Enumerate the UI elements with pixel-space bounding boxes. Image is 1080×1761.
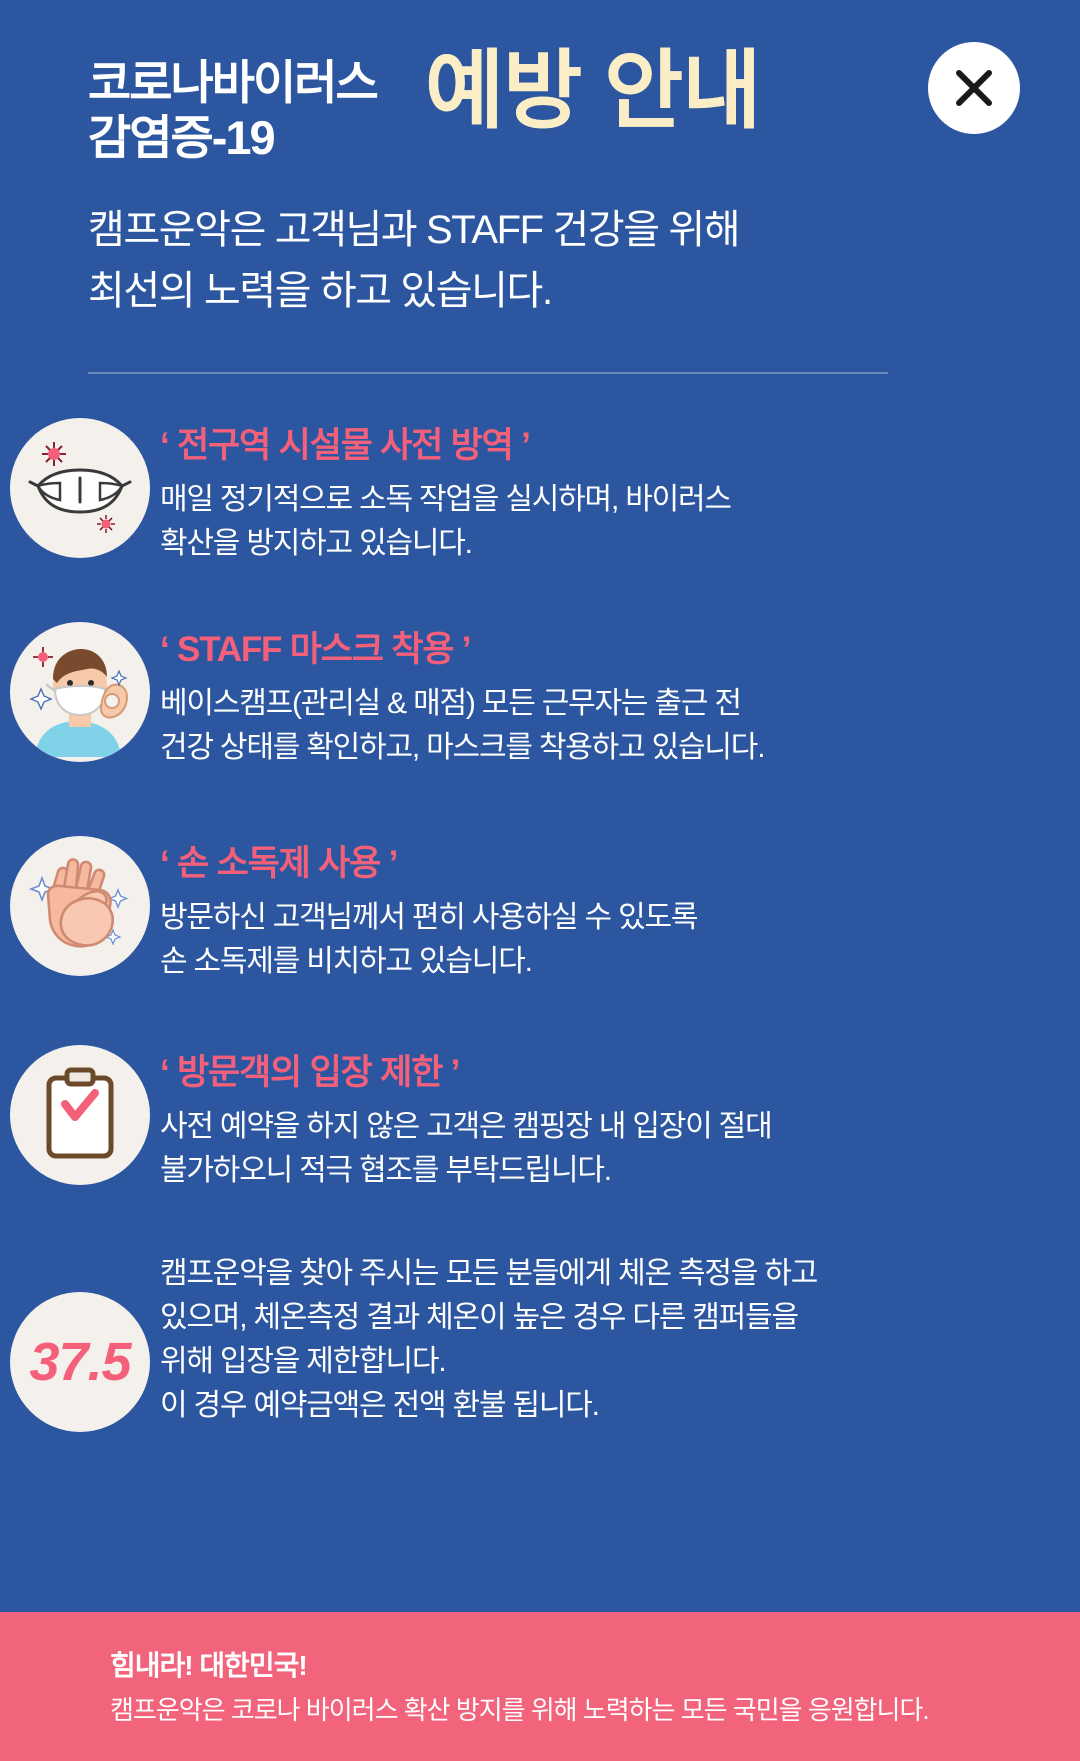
intro-text: 캠프운악은 고객님과 STAFF 건강을 위해 최선의 노력을 하고 있습니다. — [88, 200, 968, 322]
list-item: ‘ 손 소독제 사용 ’ 방문하신 고객님께서 편히 사용하실 수 있도록 손 … — [0, 828, 1080, 1023]
page-title: 예방 안내 — [425, 48, 760, 134]
icon-container — [0, 410, 160, 558]
list-item-title: ‘ STAFF 마스크 착용 ’ — [160, 628, 764, 672]
divider — [88, 372, 888, 374]
list-item-body: 사전 예약을 하지 않은 고객은 캠핑장 내 입장이 절대 불가하오니 적극 협… — [160, 1105, 771, 1193]
hand-sanitizer-icon — [10, 836, 150, 976]
list-item: ‘ 방문객의 입장 제한 ’ 사전 예약을 하지 않은 고객은 캠핑장 내 입장… — [0, 1037, 1080, 1232]
icon-container — [0, 1037, 160, 1185]
list-item: 37.5 캠프운악을 찾아 주시는 모든 분들에게 체온 측정을 하고 있으며,… — [0, 1246, 1080, 1446]
list-item-text: 캠프운악을 찾아 주시는 모든 분들에게 체온 측정을 하고 있으며, 체온측정… — [160, 1246, 857, 1428]
list-item-text: ‘ STAFF 마스크 착용 ’ 베이스캠프(관리실 & 매점) 모든 근무자는… — [160, 614, 804, 770]
list-item-text: ‘ 전구역 시설물 사전 방역 ’ 매일 정기적으로 소독 작업을 실시하며, … — [160, 410, 771, 566]
list-item-text: ‘ 손 소독제 사용 ’ 방문하신 고객님께서 편히 사용하실 수 있도록 손 … — [160, 828, 737, 984]
face-mask-icon — [10, 418, 150, 558]
header: 코로나바이러스 감염증-19 예방 안내 — [0, 0, 1080, 202]
list-item-title: ‘ 전구역 시설물 사전 방역 ’ — [160, 424, 731, 468]
icon-container — [0, 614, 160, 762]
icon-container — [0, 828, 160, 976]
list-item-body: 매일 정기적으로 소독 작업을 실시하며, 바이러스 확산을 방지하고 있습니다… — [160, 478, 731, 566]
prevention-measures-list: ‘ 전구역 시설물 사전 방역 ’ 매일 정기적으로 소독 작업을 실시하며, … — [0, 410, 1080, 1460]
icon-container: 37.5 — [0, 1246, 160, 1432]
list-item: ‘ 전구역 시설물 사전 방역 ’ 매일 정기적으로 소독 작업을 실시하며, … — [0, 410, 1080, 600]
list-item-title: ‘ 손 소독제 사용 ’ — [160, 842, 697, 886]
clipboard-checklist-icon — [10, 1045, 150, 1185]
temperature-value: 37.5 — [29, 1331, 130, 1393]
staff-wearing-mask-icon — [10, 622, 150, 762]
close-button[interactable] — [928, 42, 1020, 134]
temperature-badge-icon: 37.5 — [10, 1292, 150, 1432]
close-icon — [950, 64, 998, 112]
header-kicker: 코로나바이러스 감염증-19 — [88, 55, 377, 166]
list-item-title: ‘ 방문객의 입장 제한 ’ — [160, 1051, 771, 1095]
footer-title: 힘내라! 대한민국! — [110, 1644, 307, 1684]
list-item-text: ‘ 방문객의 입장 제한 ’ 사전 예약을 하지 않은 고객은 캠핑장 내 입장… — [160, 1037, 811, 1193]
list-item: ‘ STAFF 마스크 착용 ’ 베이스캠프(관리실 & 매점) 모든 근무자는… — [0, 614, 1080, 814]
footer-subtitle: 캠프운악은 코로나 바이러스 확산 방지를 위해 노력하는 모든 국민을 응원합… — [110, 1690, 929, 1727]
footer-banner: 힘내라! 대한민국! 캠프운악은 코로나 바이러스 확산 방지를 위해 노력하는… — [0, 1612, 1080, 1761]
list-item-body: 캠프운악을 찾아 주시는 모든 분들에게 체온 측정을 하고 있으며, 체온측정… — [160, 1252, 817, 1428]
prevention-notice-page: 코로나바이러스 감염증-19 예방 안내 캠프운악은 고객님과 STAFF 건강… — [0, 0, 1080, 1761]
list-item-body: 베이스캠프(관리실 & 매점) 모든 근무자는 출근 전 건강 상태를 확인하고… — [160, 682, 764, 770]
list-item-body: 방문하신 고객님께서 편히 사용하실 수 있도록 손 소독제를 비치하고 있습니… — [160, 896, 697, 984]
